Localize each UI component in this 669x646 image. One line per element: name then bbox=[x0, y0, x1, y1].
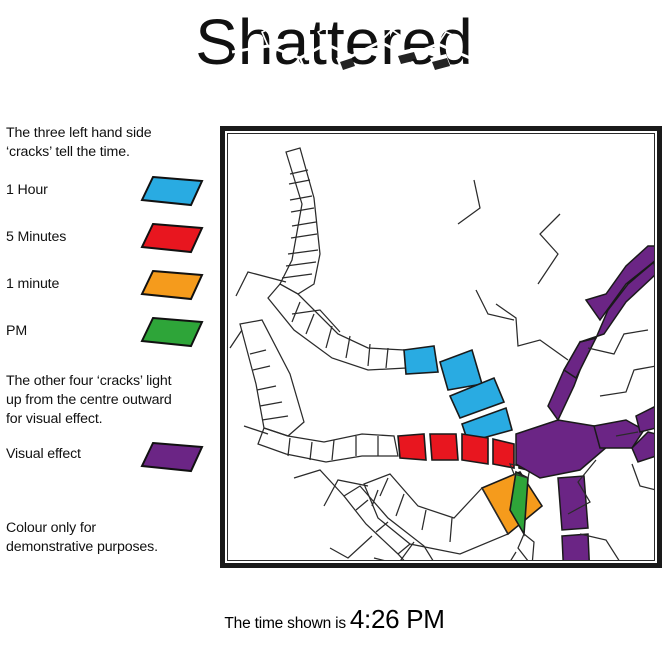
legend-item-pm-label: PM bbox=[6, 323, 27, 339]
caption: The time shown is4:26 PM bbox=[0, 604, 669, 635]
legend-item-visual-effect: Visual effect bbox=[6, 437, 211, 487]
legend-intro-text: The three left hand side ‘cracks’ tell t… bbox=[6, 124, 211, 162]
crack-one-minute-orange bbox=[324, 472, 542, 561]
legend-item-hour-label: 1 Hour bbox=[6, 182, 48, 198]
legend-visual-text: The other four ‘cracks’ light up from th… bbox=[6, 372, 211, 429]
blue-diamond-swatch bbox=[139, 174, 205, 208]
five-minute-segment-3 bbox=[462, 434, 488, 464]
legend-item-five-minutes-label: 5 Minutes bbox=[6, 229, 66, 245]
legend-item-pm: PM bbox=[6, 315, 211, 362]
legend-item-hour: 1 Hour bbox=[6, 174, 211, 221]
legend-item-visual-effect-label: Visual effect bbox=[6, 446, 81, 462]
crack-upper-left-unlit bbox=[236, 148, 406, 370]
legend-panel: The three left hand side ‘cracks’ tell t… bbox=[6, 124, 211, 557]
visual-branch-right-3 bbox=[636, 406, 655, 432]
legend-footnote-text: Colour only for demonstrative purposes. bbox=[6, 519, 211, 557]
legend-item-one-minute-label: 1 minute bbox=[6, 276, 59, 292]
caption-time-value: 4:26 PM bbox=[350, 604, 445, 634]
clock-frame bbox=[220, 126, 662, 568]
visual-branch-down-1 bbox=[558, 476, 588, 530]
crack-hour-blue bbox=[404, 346, 512, 442]
legend-item-one-minute: 1 minute bbox=[6, 268, 211, 315]
purple-diamond-swatch bbox=[139, 440, 205, 474]
crack-left-unlit bbox=[230, 320, 398, 462]
orange-diamond-swatch bbox=[139, 268, 205, 302]
title-text: Shattered bbox=[195, 6, 473, 78]
crack-pattern-graphic bbox=[228, 134, 655, 561]
hour-segment-2 bbox=[440, 350, 482, 390]
clock-face bbox=[227, 133, 655, 561]
page-title: Shattered bbox=[0, 0, 669, 96]
five-minute-segment-1 bbox=[398, 434, 426, 460]
caption-prefix: The time shown is bbox=[224, 615, 346, 632]
title-shattered-graphic: Shattered bbox=[0, 0, 669, 96]
legend-item-five-minutes: 5 Minutes bbox=[6, 221, 211, 268]
green-diamond-swatch bbox=[139, 315, 205, 349]
crack-lower-left-unlit bbox=[294, 470, 440, 561]
five-minute-segment-2 bbox=[430, 434, 458, 460]
hour-segment-1 bbox=[404, 346, 438, 374]
visual-branch-down-2 bbox=[562, 534, 590, 561]
red-diamond-swatch bbox=[139, 221, 205, 255]
